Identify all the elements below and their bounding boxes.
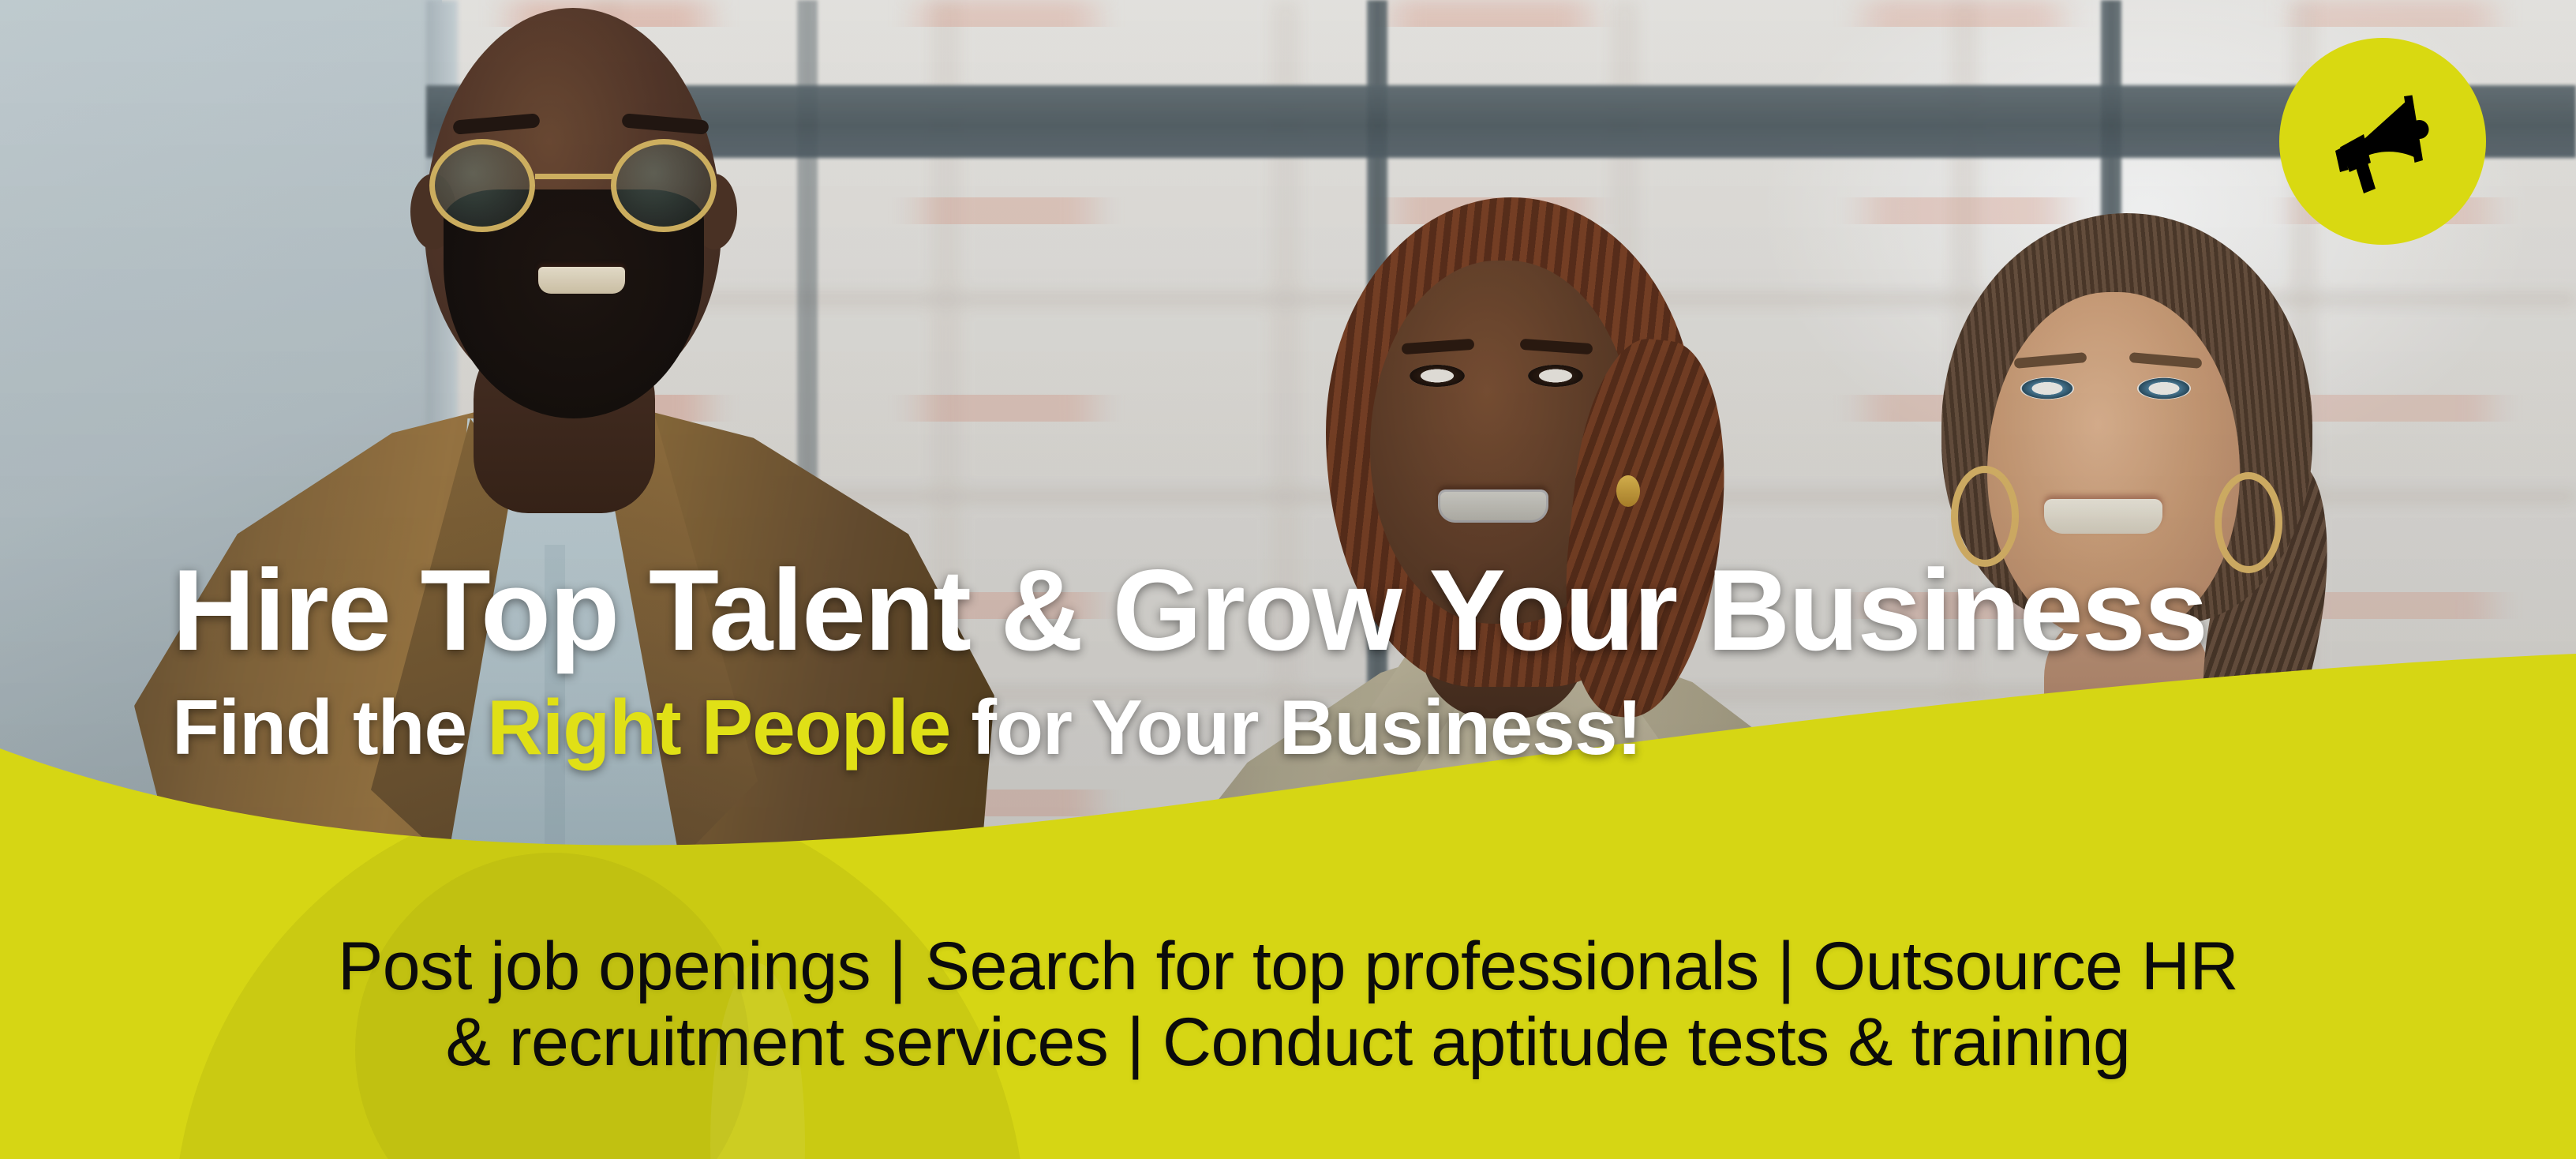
recruitment-banner: Hire Top Talent & Grow Your Business Fin… bbox=[0, 0, 2576, 1159]
subheading-prefix: Find the bbox=[172, 684, 487, 771]
megaphone-badge[interactable] bbox=[2279, 38, 2486, 245]
page-title: Hire Top Talent & Grow Your Business bbox=[172, 553, 2207, 668]
tagline-line-2: & recruitment services | Conduct aptitud… bbox=[0, 1004, 2576, 1080]
services-tagline: Post job openings | Search for top profe… bbox=[0, 928, 2576, 1081]
tagline-line-1: Post job openings | Search for top profe… bbox=[0, 928, 2576, 1004]
megaphone-icon bbox=[2323, 82, 2442, 201]
subheading: Find the Right People for Your Business! bbox=[172, 688, 1642, 766]
subheading-suffix: for Your Business! bbox=[950, 684, 1642, 771]
subheading-highlight: Right People bbox=[487, 684, 950, 771]
